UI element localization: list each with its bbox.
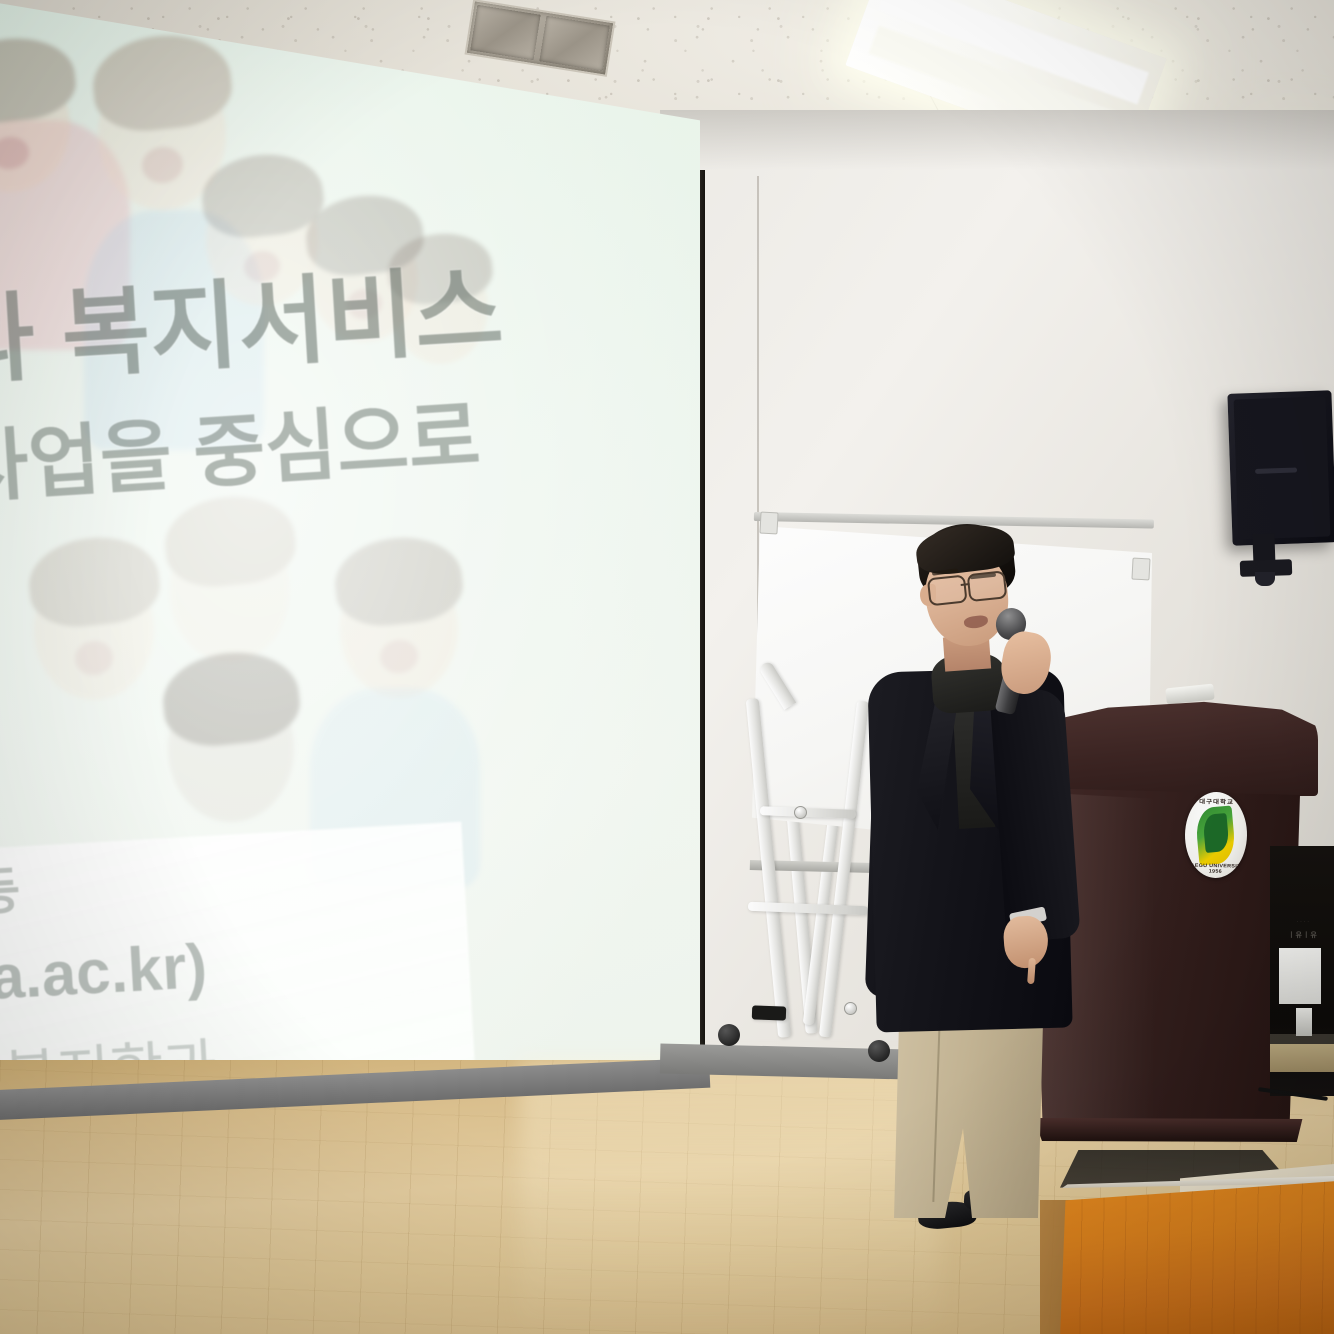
rack-canister bbox=[1296, 1008, 1312, 1036]
rack-small-text: · · · · bbox=[1278, 919, 1328, 924]
projection-screen: 과 복지서비스 사업을 중심으로 등 na.ac.kr) 회복지학과 bbox=[0, 0, 700, 1180]
rack-floor-strip bbox=[1270, 1044, 1334, 1072]
easel-caster bbox=[718, 1024, 740, 1046]
easel-foot-pad bbox=[752, 1005, 786, 1020]
rack-paper-sheet bbox=[1279, 948, 1321, 1004]
wooden-seat-back bbox=[1060, 1178, 1334, 1334]
emblem-latin-text: DAEGU UNIVERSITY 1956 bbox=[1184, 863, 1246, 875]
whiteboard-clip bbox=[759, 512, 778, 535]
university-emblem: 대구대학교 DAEGU UNIVERSITY 1956 bbox=[1184, 791, 1247, 878]
rack-sign: ㅣ유ㅣ유 bbox=[1278, 930, 1328, 946]
whiteboard-clip bbox=[1131, 558, 1150, 581]
wall-mounted-loudspeaker bbox=[1227, 390, 1334, 546]
wall-top-shadow bbox=[660, 110, 1334, 170]
presenter bbox=[852, 512, 1082, 1162]
slide-text-line-4: na.ac.kr) bbox=[0, 931, 209, 1016]
easel-knob bbox=[794, 806, 807, 819]
speaker-mount-pivot bbox=[1255, 572, 1275, 586]
lecture-hall-photo: 과 복지서비스 사업을 중심으로 등 na.ac.kr) 회복지학과 bbox=[0, 0, 1334, 1334]
emblem-korean-text: 대구대학교 bbox=[1186, 796, 1248, 806]
